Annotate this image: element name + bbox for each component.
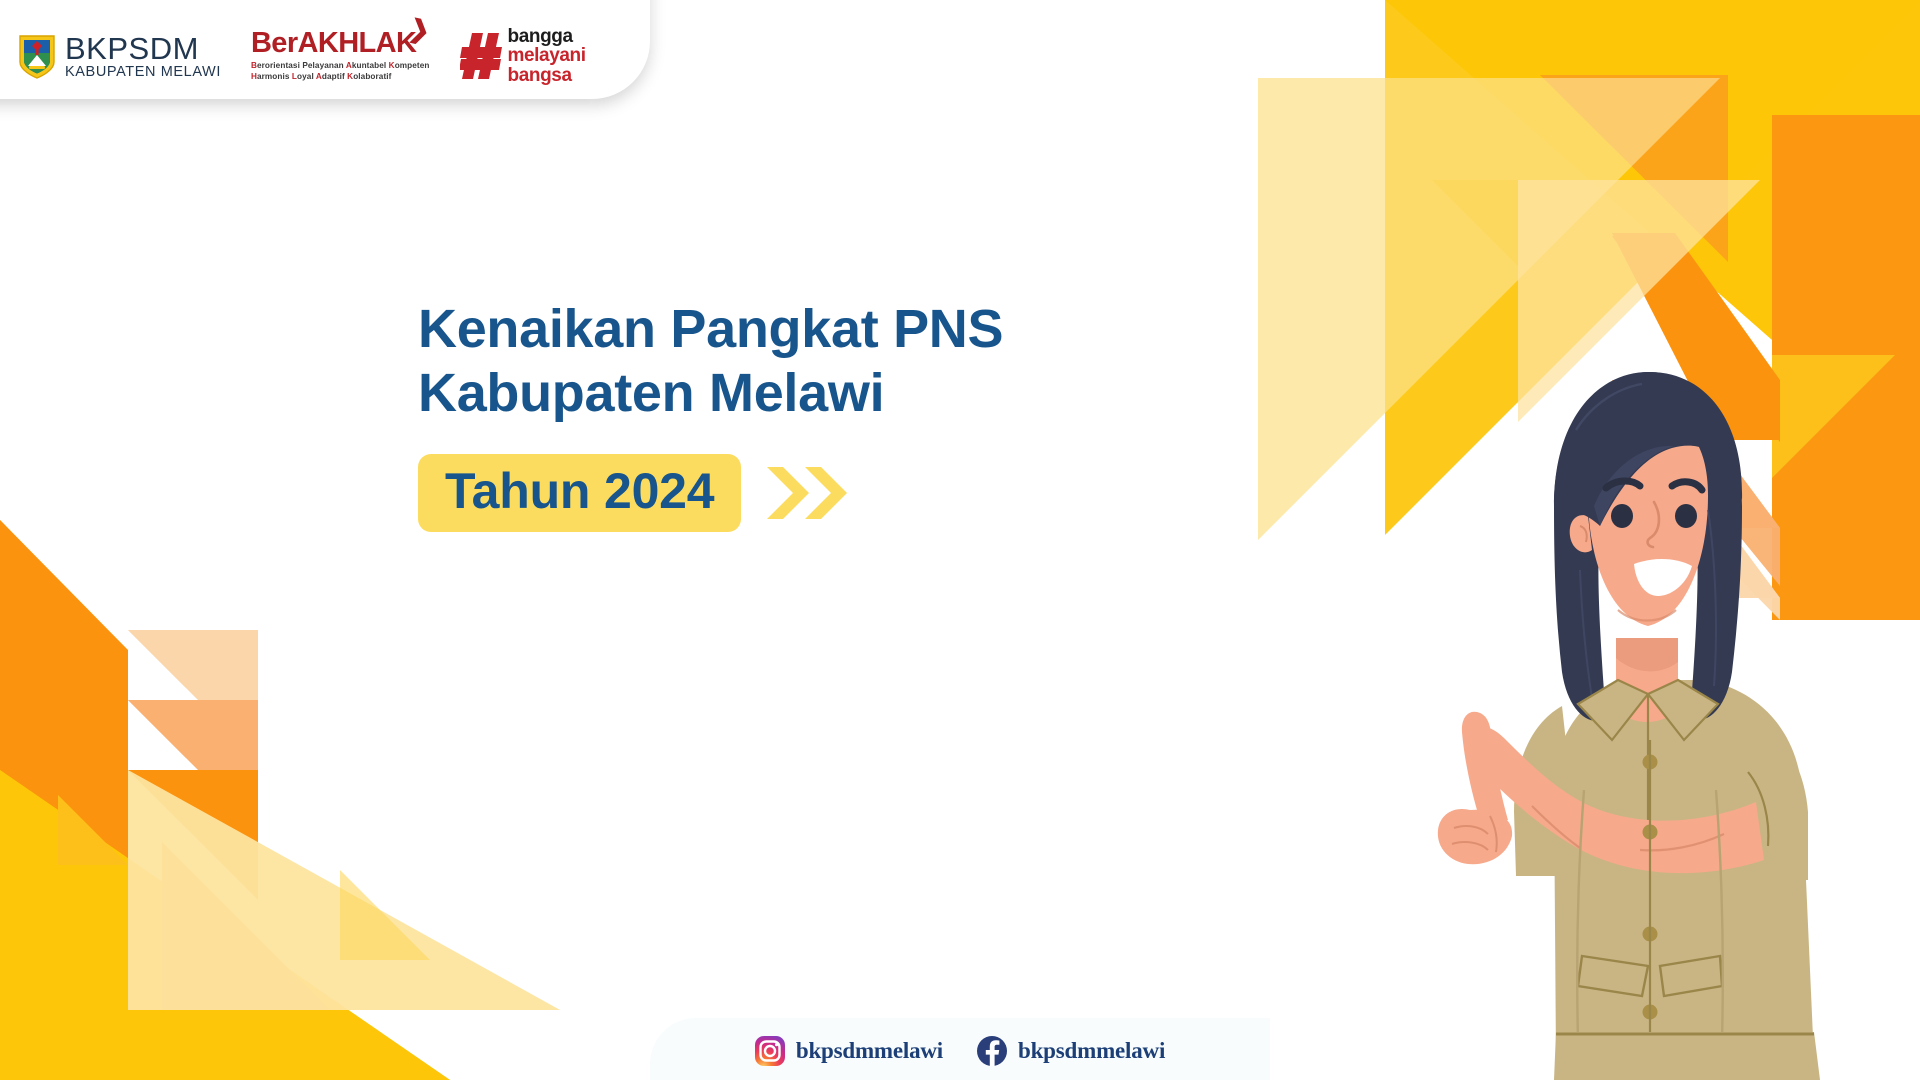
facebook-social[interactable]: bkpsdmmelawi	[977, 1036, 1165, 1066]
instagram-social[interactable]: bkpsdmmelawi	[755, 1036, 943, 1066]
bangga-melayani-bangsa-logo: bangga melayani bangsa	[460, 27, 586, 85]
woman-pointing-left-illustration	[1404, 320, 1874, 1080]
berakhlak-logo: BerAKHLAK ❯ Berorientasi Pelayanan Akunt…	[251, 29, 430, 83]
tagline-line-1: erorientasi Pelayanan	[257, 61, 344, 70]
swoosh-accent-icon: ❯	[407, 16, 432, 45]
instagram-handle[interactable]: bkpsdmmelawi	[796, 1038, 943, 1064]
hashtag-icon	[460, 31, 504, 81]
social-footer-card: bkpsdmmelawi bkpsdmmelawi	[650, 1018, 1270, 1080]
bangga-word-3: bangsa	[508, 66, 586, 85]
berakhlak-word: BerAKHLAK	[251, 27, 416, 59]
poster-canvas: BKPSDM KABUPATEN MELAWI BerAKHLAK ❯ Bero…	[0, 0, 1920, 1080]
bkpsdm-subtitle: KABUPATEN MELAWI	[65, 65, 221, 80]
year-badge: Tahun 2024	[418, 454, 741, 532]
instagram-icon[interactable]	[755, 1036, 785, 1066]
bkpsdm-logo: BKPSDM KABUPATEN MELAWI	[18, 33, 221, 80]
headline-block: Kenaikan Pangkat PNS Kabupaten Melawi Ta…	[418, 297, 1003, 532]
bangga-word-2: melayani	[508, 46, 586, 65]
bangga-wordmark: bangga melayani bangsa	[508, 27, 586, 85]
year-row: Tahun 2024	[418, 454, 1003, 532]
berakhlak-tagline: Berorientasi Pelayanan Akuntabel Kompete…	[251, 61, 430, 83]
berakhlak-wordmark: BerAKHLAK ❯	[251, 29, 416, 58]
header-logo-card: BKPSDM KABUPATEN MELAWI BerAKHLAK ❯ Bero…	[0, 0, 650, 99]
decorative-pattern-bottom-left	[0, 520, 620, 1080]
bkpsdm-title: BKPSDM	[65, 33, 221, 64]
double-chevron-right-icon	[765, 463, 849, 523]
melawi-regency-emblem-icon	[18, 33, 56, 79]
title-line-2: Kabupaten Melawi	[418, 361, 1003, 425]
facebook-icon[interactable]	[977, 1036, 1007, 1066]
bangga-word-1: bangga	[508, 27, 586, 46]
facebook-handle[interactable]: bkpsdmmelawi	[1018, 1038, 1165, 1064]
title-line-1: Kenaikan Pangkat PNS	[418, 297, 1003, 361]
header-logo-row: BKPSDM KABUPATEN MELAWI BerAKHLAK ❯ Bero…	[18, 21, 586, 91]
